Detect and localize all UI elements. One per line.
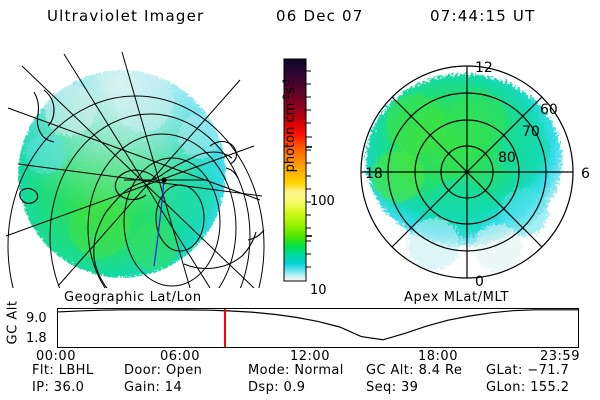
mlt-label-18: 18	[365, 166, 383, 182]
status-glon: GLon: 155.2	[486, 380, 569, 395]
mlat-label-80: 80	[498, 150, 516, 166]
status-gain: Gain: 14	[124, 380, 182, 395]
colorbar-tick-10: 10	[310, 283, 327, 298]
status-footer: Flt: LBHL Door: Open Mode: Normal GC Alt…	[0, 362, 600, 400]
aurora-emission-apex	[366, 74, 562, 272]
status-dsp: Dsp: 0.9	[248, 380, 305, 395]
mlt-label-12: 12	[475, 60, 493, 76]
status-door: Door: Open	[124, 363, 202, 378]
status-gc-alt: GC Alt: 8.4 Re	[366, 363, 462, 378]
apex-image-panel[interactable]: 12 18 6 0 60 70 80	[338, 48, 596, 290]
timeline-y-axis-label: GC Alt	[6, 300, 21, 346]
status-filter: Flt: LBHL	[32, 363, 93, 378]
colorbar-panel: photon cm-2s-1 100 10	[266, 55, 338, 287]
orbit-timeline-strip: GC Alt 9.0 1.8 00:00 06:00 12:00 18:00 2…	[0, 305, 600, 357]
status-glat: GLat: −71.7	[486, 363, 569, 378]
colorbar-major-ticks	[306, 147, 312, 236]
status-seq: Seq: 39	[366, 380, 418, 395]
apex-panel-title: Apex MLat/MLT	[404, 290, 509, 305]
mlat-label-70: 70	[522, 124, 540, 140]
geographic-plot	[4, 50, 266, 288]
header-date: 06 Dec 07	[276, 7, 364, 25]
mlt-label-6: 6	[581, 166, 590, 182]
mlt-label-0: 0	[475, 274, 484, 290]
colorbar-tick-100: 100	[310, 194, 335, 209]
timeline-y-tick-high: 9.0	[26, 311, 47, 326]
status-ip: IP: 36.0	[32, 380, 84, 395]
orbit-altitude-plot[interactable]	[57, 308, 579, 348]
geographic-image-panel[interactable]	[4, 50, 266, 288]
geographic-panel-title: Geographic Lat/Lon	[64, 290, 202, 305]
uvi-display: Ultraviolet Imager 06 Dec 07 07:44:15 UT	[0, 0, 600, 400]
header-time-ut: 07:44:15 UT	[430, 7, 535, 25]
page-title: Ultraviolet Imager	[47, 7, 204, 25]
apex-polar-plot: 12 18 6 0 60 70 80	[338, 48, 596, 290]
header-bar: Ultraviolet Imager 06 Dec 07 07:44:15 UT	[0, 5, 600, 29]
mlat-label-60: 60	[540, 102, 558, 118]
current-time-marker	[58, 309, 578, 347]
timeline-y-tick-low: 1.8	[26, 331, 47, 346]
status-mode: Mode: Normal	[248, 363, 344, 378]
colorbar-ticks	[306, 71, 312, 267]
apex-graticule	[361, 66, 573, 278]
colorbar-axis-label: photon cm-2s-1	[282, 55, 298, 195]
